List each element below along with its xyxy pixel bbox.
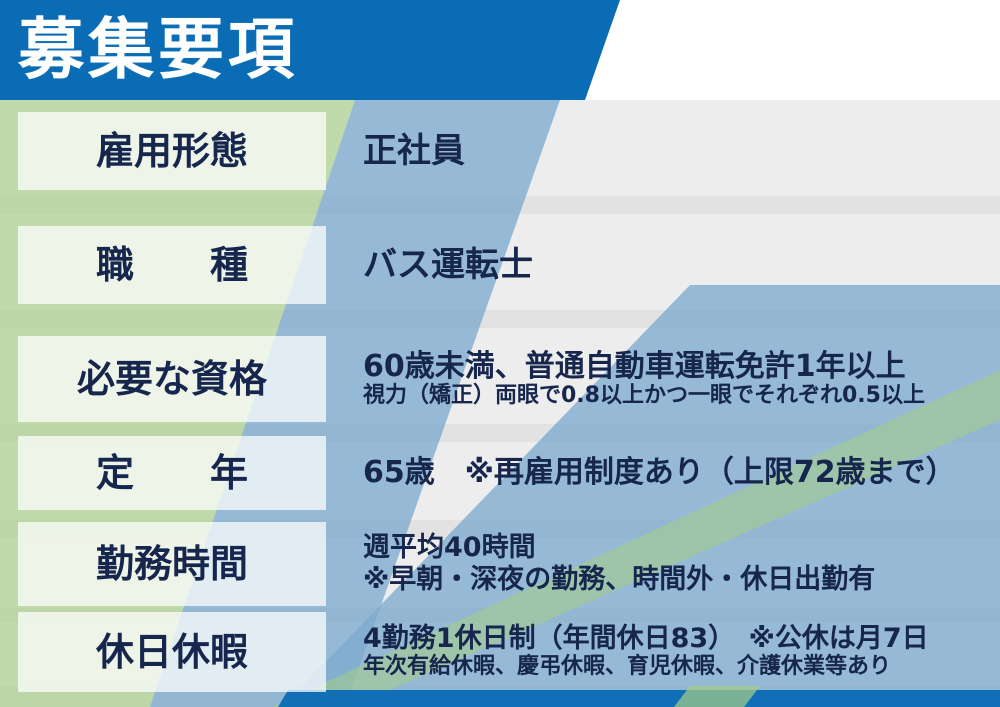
row-value-sub: ※早朝・深夜の勤務、時間外・休日出勤有 bbox=[363, 564, 875, 595]
row-value-main: 60歳未満、普通自動車運転免許1年以上 bbox=[363, 350, 925, 384]
row-value-cell: 4勤務1休日制（年間休日83） ※公休は月7日 年次有給休暇、慶弔休暇、育児休暇… bbox=[363, 612, 929, 692]
row-label-cell: 休日休暇 bbox=[18, 612, 326, 692]
row-value-cell: 正社員 bbox=[363, 112, 465, 190]
row-value-cell: 週平均40時間 ※早朝・深夜の勤務、時間外・休日出勤有 bbox=[363, 522, 875, 606]
row-label-text: 雇用形態 bbox=[96, 132, 248, 170]
row-value-cell: 65歳 ※再雇用制度あり（上限72歳まで） bbox=[363, 436, 956, 510]
row-value-main: 正社員 bbox=[363, 132, 465, 170]
recruitment-requirements-poster: 募集要項 雇用形態 正社員 職 種 バス運転士 必要な資格 60歳未満、普通自動… bbox=[0, 0, 1000, 707]
row-value-cell: バス運転士 bbox=[363, 226, 533, 304]
table-row: 必要な資格 60歳未満、普通自動車運転免許1年以上 視力（矯正）両眼で0.8以上… bbox=[0, 336, 1000, 422]
row-value-sub: 視力（矯正）両眼で0.8以上かつ一眼でそれぞれ0.5以上 bbox=[363, 383, 925, 408]
table-row: 勤務時間 週平均40時間 ※早朝・深夜の勤務、時間外・休日出勤有 bbox=[0, 522, 1000, 606]
table-row: 職 種 バス運転士 bbox=[0, 226, 1000, 304]
row-value-main: バス運転士 bbox=[363, 246, 533, 284]
row-label-cell: 勤務時間 bbox=[18, 522, 326, 606]
table-row: 休日休暇 4勤務1休日制（年間休日83） ※公休は月7日 年次有給休暇、慶弔休暇… bbox=[0, 612, 1000, 692]
row-value-cell: 60歳未満、普通自動車運転免許1年以上 視力（矯正）両眼で0.8以上かつ一眼でそ… bbox=[363, 336, 925, 422]
row-label-cell: 職 種 bbox=[18, 226, 326, 304]
row-label-cell: 雇用形態 bbox=[18, 112, 326, 190]
row-label-text: 勤務時間 bbox=[96, 545, 248, 583]
row-value-sub: 年次有給休暇、慶弔休暇、育児休暇、介護休業等あり bbox=[363, 654, 929, 679]
table-row: 定 年 65歳 ※再雇用制度あり（上限72歳まで） bbox=[0, 436, 1000, 510]
page-title: 募集要項 bbox=[18, 7, 298, 93]
row-value-main: 4勤務1休日制（年間休日83） ※公休は月7日 bbox=[363, 624, 929, 654]
row-value-main: 65歳 ※再雇用制度あり（上限72歳まで） bbox=[363, 456, 956, 490]
row-label-cell: 定 年 bbox=[18, 436, 326, 510]
row-value-main: 週平均40時間 bbox=[363, 533, 875, 563]
row-label-text: 必要な資格 bbox=[77, 360, 267, 398]
row-label-text: 休日休暇 bbox=[96, 633, 248, 671]
row-label-text: 定 年 bbox=[96, 454, 248, 492]
table-row: 雇用形態 正社員 bbox=[0, 112, 1000, 190]
row-label-cell: 必要な資格 bbox=[18, 336, 326, 422]
row-label-text: 職 種 bbox=[96, 246, 248, 284]
